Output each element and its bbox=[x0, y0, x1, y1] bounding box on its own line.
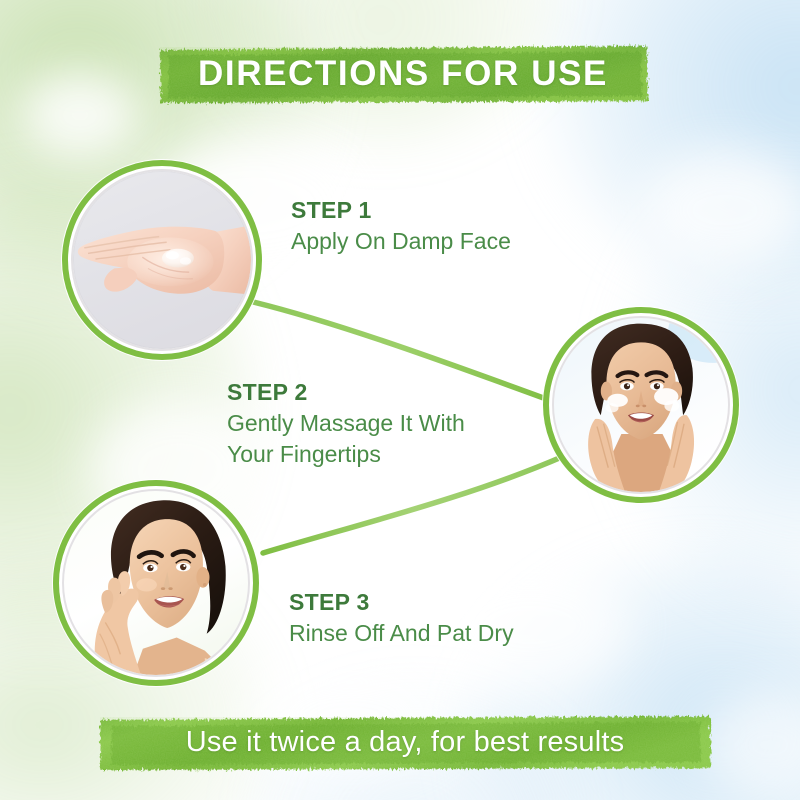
palm-with-facewash-photo bbox=[73, 171, 251, 349]
woman-clean-face-photo bbox=[64, 491, 248, 675]
title-banner: DIRECTIONS FOR USE bbox=[155, 41, 651, 107]
connector-step2-to-step3 bbox=[263, 456, 564, 553]
step-3-title: STEP 3 bbox=[289, 589, 514, 615]
white-cloud-highlight bbox=[20, 70, 140, 160]
footer-note: Use it twice a day, for best results bbox=[186, 726, 625, 759]
step-2-text: STEP 2 Gently Massage It With Your Finge… bbox=[227, 379, 465, 469]
page-title: DIRECTIONS FOR USE bbox=[198, 54, 608, 94]
step-1-description-line-1: Apply On Damp Face bbox=[291, 226, 511, 256]
footer-banner: Use it twice a day, for best results bbox=[96, 710, 714, 774]
white-cloud-highlight bbox=[640, 150, 800, 270]
step-1-title: STEP 1 bbox=[291, 197, 511, 223]
white-cloud-highlight bbox=[700, 690, 800, 800]
step-2-photo-circle bbox=[543, 307, 739, 503]
step-3-text: STEP 3 Rinse Off And Pat Dry bbox=[289, 589, 514, 649]
step-1-photo-circle bbox=[62, 160, 262, 360]
step-1-description: Apply On Damp Face bbox=[291, 226, 511, 256]
step-1-text: STEP 1 Apply On Damp Face bbox=[291, 197, 511, 257]
step-3-description-line-1: Rinse Off And Pat Dry bbox=[289, 618, 514, 648]
step-2-description-line-1: Gently Massage It With bbox=[227, 408, 465, 438]
step-3-description: Rinse Off And Pat Dry bbox=[289, 618, 514, 648]
directions-for-use-poster: DIRECTIONS FOR USE bbox=[0, 0, 800, 800]
step-3-photo-circle bbox=[53, 480, 259, 686]
step-2-description-line-2: Your Fingertips bbox=[227, 439, 465, 469]
step-2-title: STEP 2 bbox=[227, 379, 465, 405]
step-2-description: Gently Massage It With Your Fingertips bbox=[227, 408, 465, 469]
woman-massaging-face-photo bbox=[554, 318, 728, 492]
